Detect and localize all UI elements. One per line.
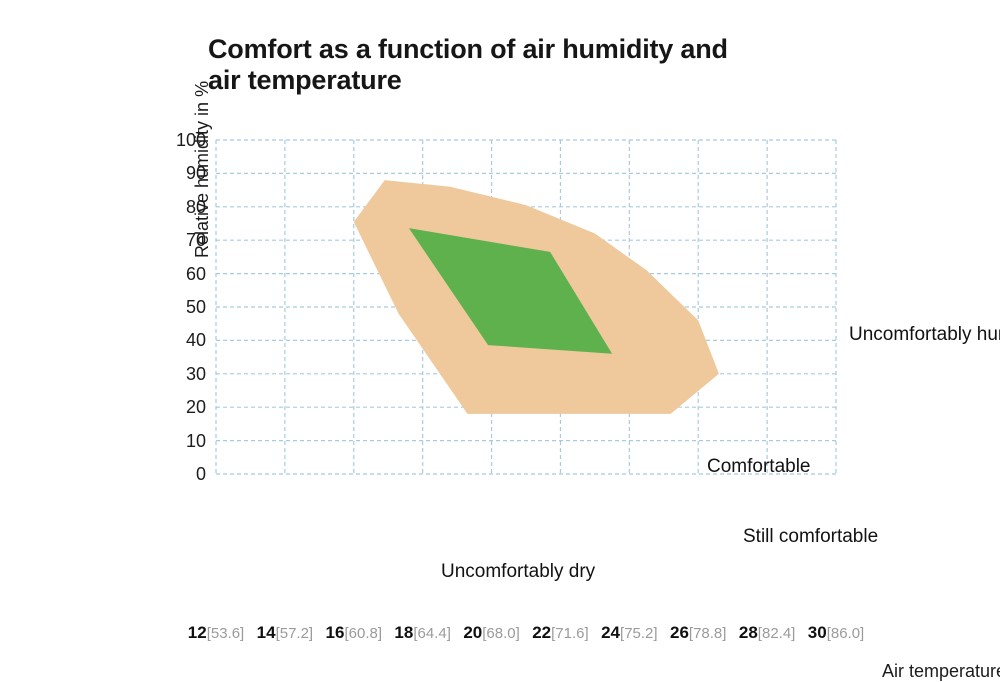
- x-tick-celsius: 24: [601, 623, 620, 642]
- x-tick-celsius: 20: [463, 623, 482, 642]
- x-tick-fahrenheit: [86.0]: [827, 625, 865, 642]
- y-tick-label: 50: [160, 298, 206, 316]
- y-tick-label: 10: [160, 432, 206, 450]
- x-tick-fahrenheit: [68.0]: [482, 625, 520, 642]
- x-tick-celsius: 16: [326, 623, 345, 642]
- x-tick-celsius: 18: [394, 623, 413, 642]
- x-tick-label: 26[78.8]: [670, 624, 726, 641]
- label-still-comfortable: Still comfortable: [743, 527, 878, 546]
- x-tick-fahrenheit: [82.4]: [758, 625, 796, 642]
- x-tick-fahrenheit: [75.2]: [620, 625, 658, 642]
- y-tick-label: 80: [160, 198, 206, 216]
- plot-area: Relative humidity in % 10090807060504030…: [216, 140, 836, 474]
- label-comfortable: Comfortable: [707, 457, 811, 476]
- x-axis-title-celsius: Air temperature in °C: [882, 661, 1000, 681]
- y-tick-label: 30: [160, 365, 206, 383]
- x-tick-fahrenheit: [64.4]: [413, 625, 451, 642]
- x-tick-celsius: 26: [670, 623, 689, 642]
- x-tick-label: 14[57.2]: [257, 624, 313, 641]
- x-tick-celsius: 28: [739, 623, 758, 642]
- x-tick-label: 16[60.8]: [326, 624, 382, 641]
- x-tick-fahrenheit: [53.6]: [207, 625, 245, 642]
- x-tick-fahrenheit: [71.6]: [551, 625, 589, 642]
- y-tick-label: 40: [160, 331, 206, 349]
- x-tick-fahrenheit: [78.8]: [689, 625, 727, 642]
- x-tick-label: 12[53.6]: [188, 624, 244, 641]
- x-tick-celsius: 22: [532, 623, 551, 642]
- x-tick-celsius: 12: [188, 623, 207, 642]
- label-uncomfortably-humid: Uncomfortably humid: [849, 325, 1000, 344]
- y-tick-label: 90: [160, 164, 206, 182]
- x-tick-celsius: 30: [808, 623, 827, 642]
- comfort-chart: Comfort as a function of air humidity an…: [0, 0, 1000, 562]
- y-tick-label: 0: [160, 465, 206, 483]
- y-tick-label: 60: [160, 265, 206, 283]
- page-title: Comfort as a function of air humidity an…: [208, 34, 848, 97]
- plot-svg: [216, 140, 836, 474]
- y-tick-label: 70: [160, 231, 206, 249]
- x-tick-label: 20[68.0]: [463, 624, 519, 641]
- y-tick-label: 100: [160, 131, 206, 149]
- label-uncomfortably-dry: Uncomfortably dry: [441, 562, 595, 581]
- x-tick-fahrenheit: [60.8]: [344, 625, 382, 642]
- x-tick-celsius: 14: [257, 623, 276, 642]
- x-axis-title: Air temperature in °C [°F]: [882, 661, 1000, 682]
- x-tick-label: 30[86.0]: [808, 624, 864, 641]
- x-tick-label: 18[64.4]: [394, 624, 450, 641]
- x-tick-label: 24[75.2]: [601, 624, 657, 641]
- x-tick-label: 28[82.4]: [739, 624, 795, 641]
- x-tick-label: 22[71.6]: [532, 624, 588, 641]
- y-tick-label: 20: [160, 398, 206, 416]
- x-tick-fahrenheit: [57.2]: [276, 625, 314, 642]
